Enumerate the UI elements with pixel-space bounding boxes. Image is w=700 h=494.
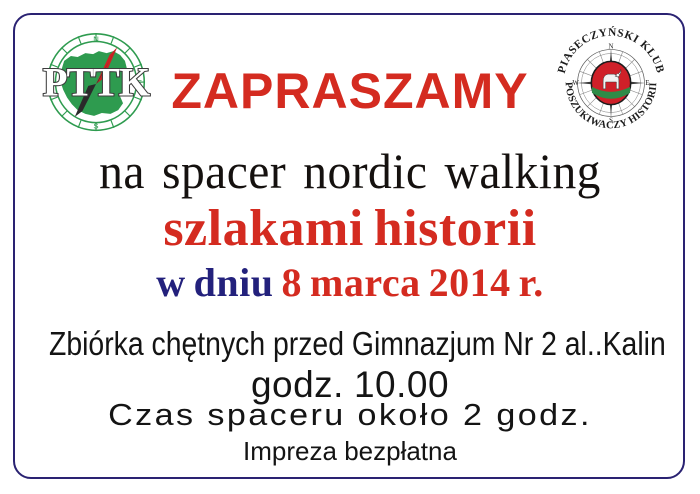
pttk-compass-north: N [93,35,99,44]
club-compass-south: S [609,117,613,124]
subhead-word-walking: walking [445,146,601,196]
emphasis-word-historii: historii [374,203,537,255]
date-year-suffix: r. [519,263,544,303]
date-word-dniu: dniu [194,263,274,303]
poster: N E S W PTTK PIASECZYŃSKI KLUB [0,0,700,494]
subhead-word-na: na [99,146,145,196]
subhead-activity: naspacernordicwalking [18,146,683,196]
emphasis-word-szlakami: szlakami [163,203,363,255]
pttk-compass-south: S [93,121,98,130]
date-year: 2014 [429,263,511,303]
date-word-w: w [156,263,185,303]
event-date-line: wdniu8marca2014r. [0,263,700,303]
date-day: 8 [282,263,303,303]
club-compass-north: N [609,44,614,51]
price-text: Impreza bezpłatna [0,438,700,464]
walk-duration-text: Czas spaceru około 2 godz. [0,399,700,430]
meeting-point-text: Zbiórka chętnych przed Gimnazjum Nr 2 al… [49,327,651,360]
headline-invite: ZAPRASZAMY [0,66,700,116]
subhead-emphasis: szlakamihistorii [0,203,700,255]
subhead-word-nordic: nordic [303,146,427,196]
date-month: marca [310,263,421,303]
subhead-word-spacer: spacer [162,146,286,196]
